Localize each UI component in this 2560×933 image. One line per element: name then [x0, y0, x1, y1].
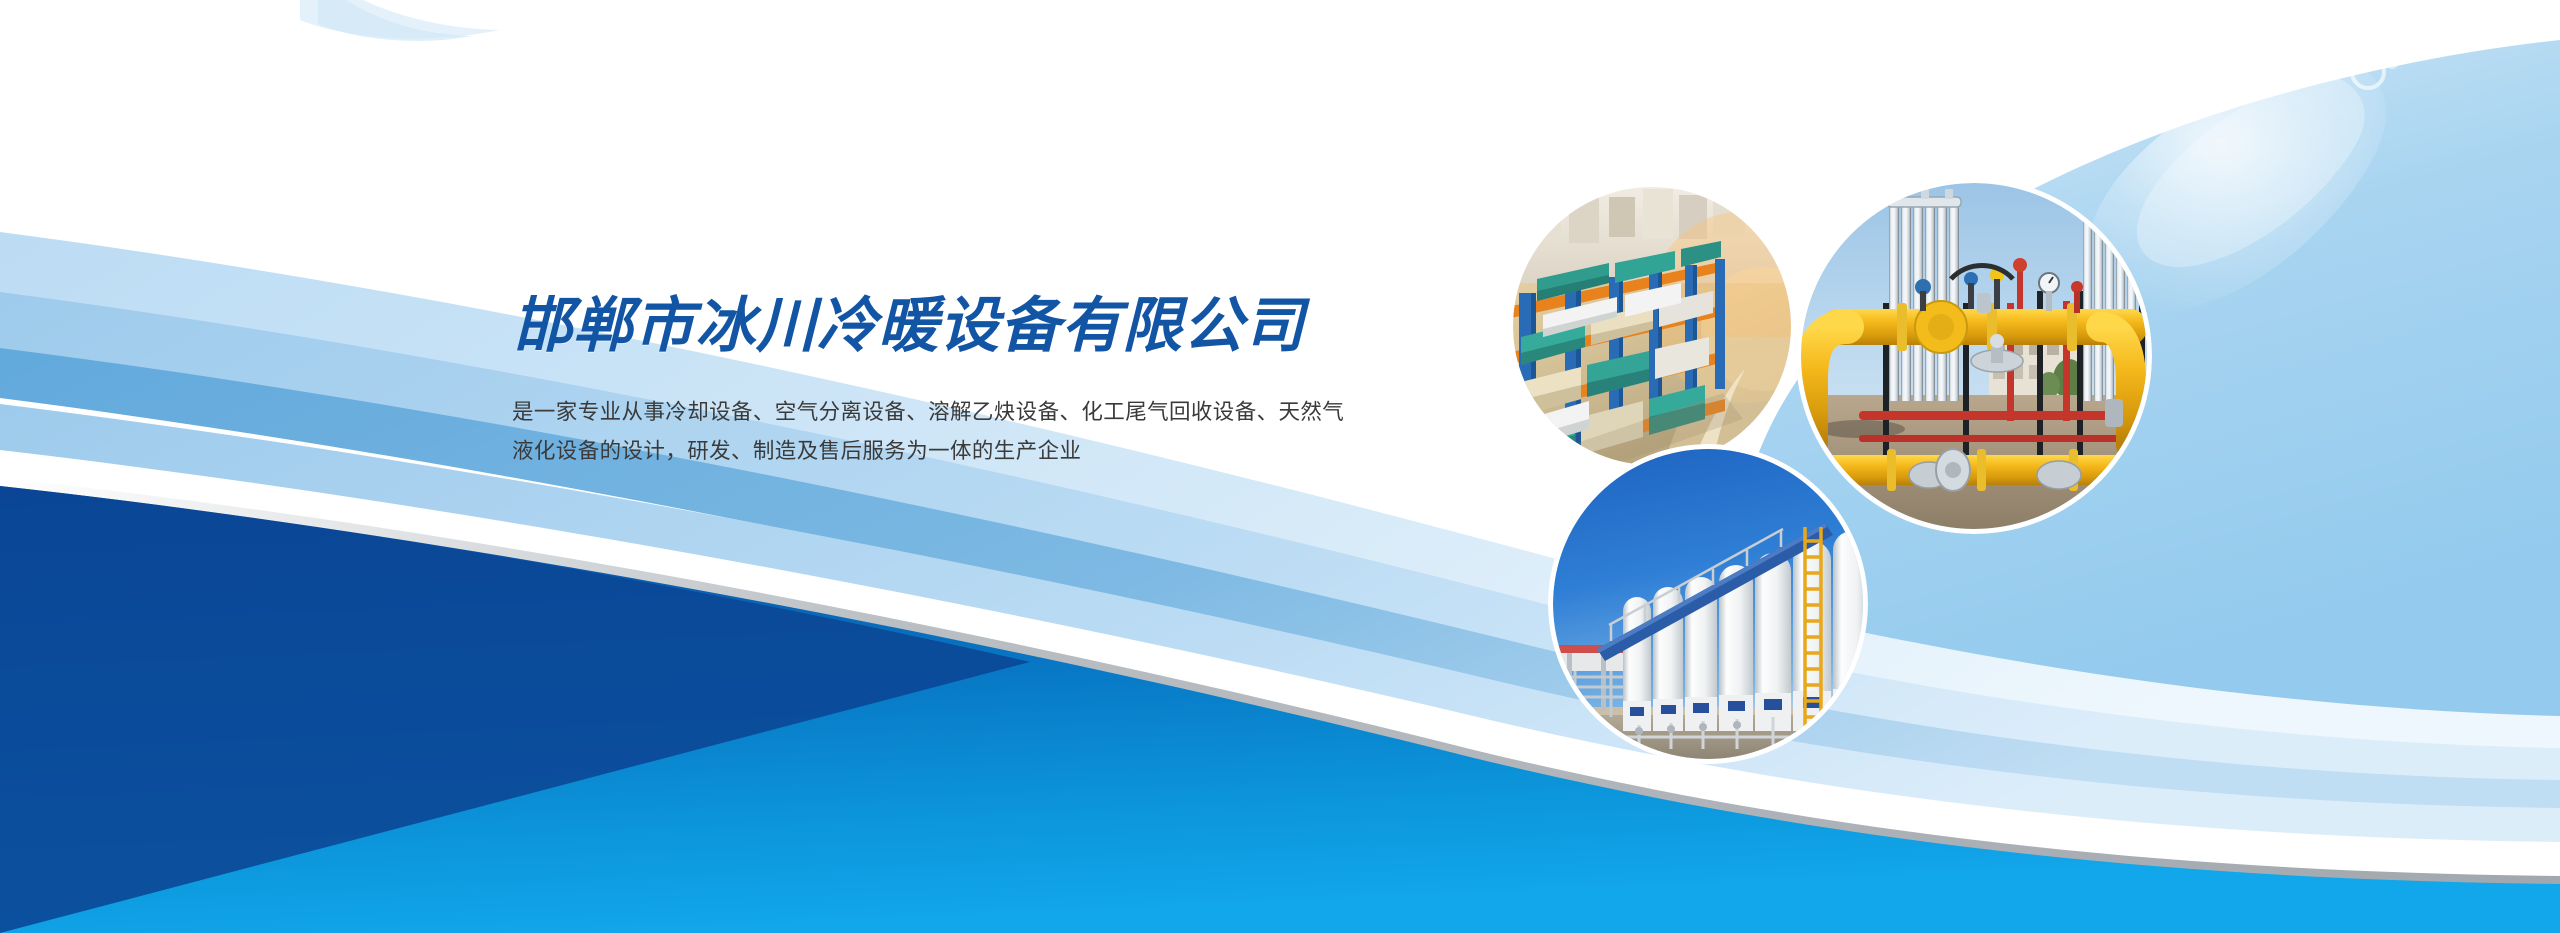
photo-lng-tanks-image: [1553, 449, 1863, 759]
banner-text-block: 邯郸市冰川冷暖设备有限公司 是一家专业从事冷却设备、空气分离设备、溶解乙炔设备、…: [512, 292, 1522, 471]
company-description-line-1: 是一家专业从事冷却设备、空气分离设备、溶解乙炔设备、化工尾气回收设备、天然气: [512, 393, 1492, 432]
lng-tanks-illustration: [1553, 449, 1863, 759]
company-description-line-2: 液化设备的设计，研发、制造及售后服务为一体的生产企业: [512, 432, 1492, 471]
warehouse-illustration: [1513, 187, 1791, 465]
lower-flange-joint: [1936, 449, 1970, 491]
photo-circle-lng-tanks: [1548, 444, 1868, 764]
company-title: 邯郸市冰川冷暖设备有限公司: [512, 292, 1522, 359]
photo-circle-warehouse: [1508, 182, 1796, 470]
banner-root: 邯郸市冰川冷暖设备有限公司 是一家专业从事冷却设备、空气分离设备、溶解乙炔设备、…: [0, 0, 2560, 933]
company-description: 是一家专业从事冷却设备、空气分离设备、溶解乙炔设备、化工尾气回收设备、天然气 液…: [512, 393, 1492, 471]
photo-warehouse-image: [1513, 187, 1791, 465]
